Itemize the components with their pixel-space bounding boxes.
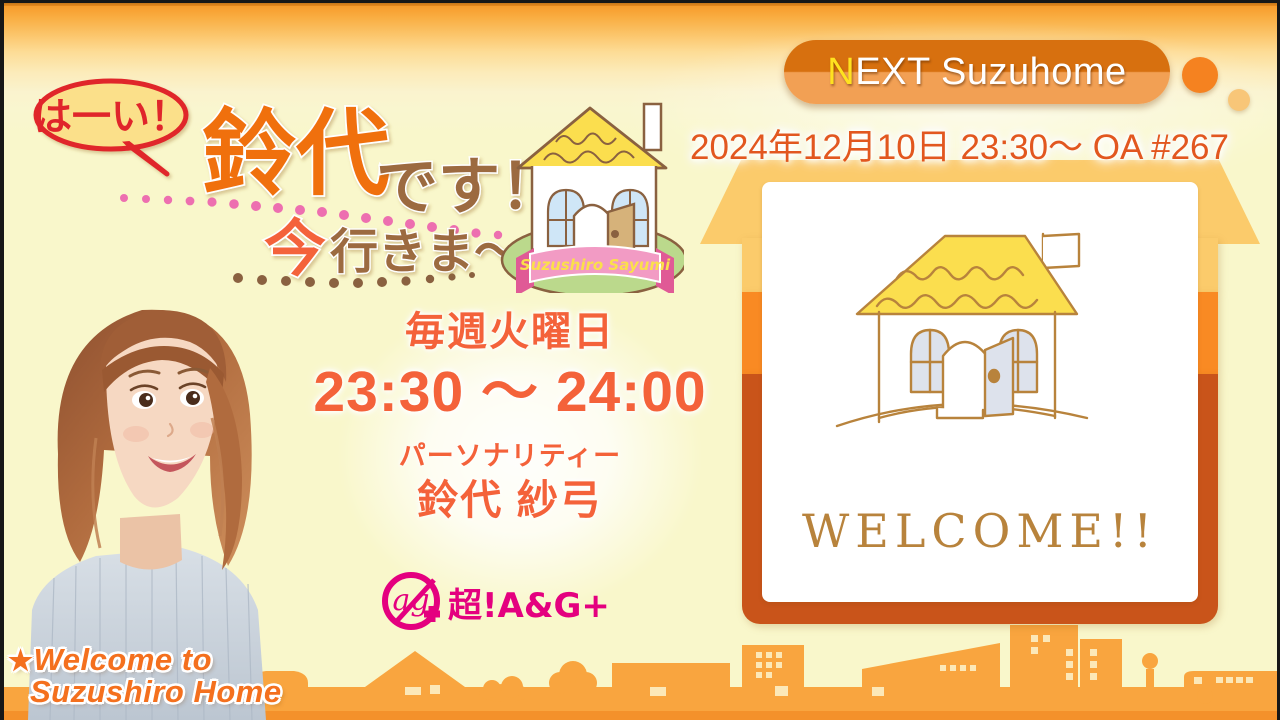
personality-name: 鈴代 紗弓 (300, 480, 720, 521)
svg-text:ag: ag (392, 583, 429, 618)
welcome-footer: ★Welcome to Suzushiro Home (8, 644, 282, 708)
welcome-text: WELCOME!! (762, 504, 1198, 558)
house-drawing-icon (835, 226, 1125, 456)
title-line2-main: 今 (264, 212, 326, 285)
broadcast-program-card: は一い！ 鈴代 です！ 今 行きま～す！ (0, 0, 1280, 720)
ribbon-text: Suzushiro Sayumi (520, 256, 671, 274)
welcome-card: WELCOME!! (762, 182, 1198, 602)
badge-dot-small (1228, 89, 1250, 111)
bubble-text: は一い！ (33, 95, 189, 140)
next-badge-initial: N (827, 51, 855, 93)
role-label: パーソナリティー (300, 443, 720, 470)
badge-dot-large (1182, 57, 1218, 93)
ag-circle-mark: ag (385, 575, 440, 627)
outer-frame-accent (4, 3, 1277, 6)
next-episode-header: NEXT Suzuhome (784, 40, 1170, 104)
title-main: 鈴代 (202, 100, 390, 209)
broadcast-time: 23:30 ～ 24:00 (300, 364, 720, 421)
house-frame-panel: WELCOME!! (700, 160, 1260, 660)
star-icon: ★ (8, 645, 34, 676)
next-suzuhome-badge[interactable]: NEXT Suzuhome (784, 40, 1170, 104)
station-name: 超!A&G+ (448, 586, 610, 626)
welcome-line1: Welcome to (34, 642, 212, 677)
next-broadcast-date: 2024年12月10日 23:30～ OA #267 (690, 119, 1229, 170)
broadcast-day: 毎週火曜日 (300, 312, 720, 352)
schedule-block: 毎週火曜日 23:30 ～ 24:00 パーソナリティー 鈴代 紗弓 (300, 312, 720, 521)
station-logo-ag-plus: ag 超!A&G+ (378, 572, 618, 634)
program-title-logo: は一い！ 鈴代 です！ 今 行きま～す！ (24, 78, 684, 293)
welcome-line2: Suzushiro Home (30, 674, 282, 709)
next-badge-rest: EXT Suzuhome (855, 51, 1126, 93)
next-badge-label: NEXT Suzuhome (827, 51, 1126, 94)
